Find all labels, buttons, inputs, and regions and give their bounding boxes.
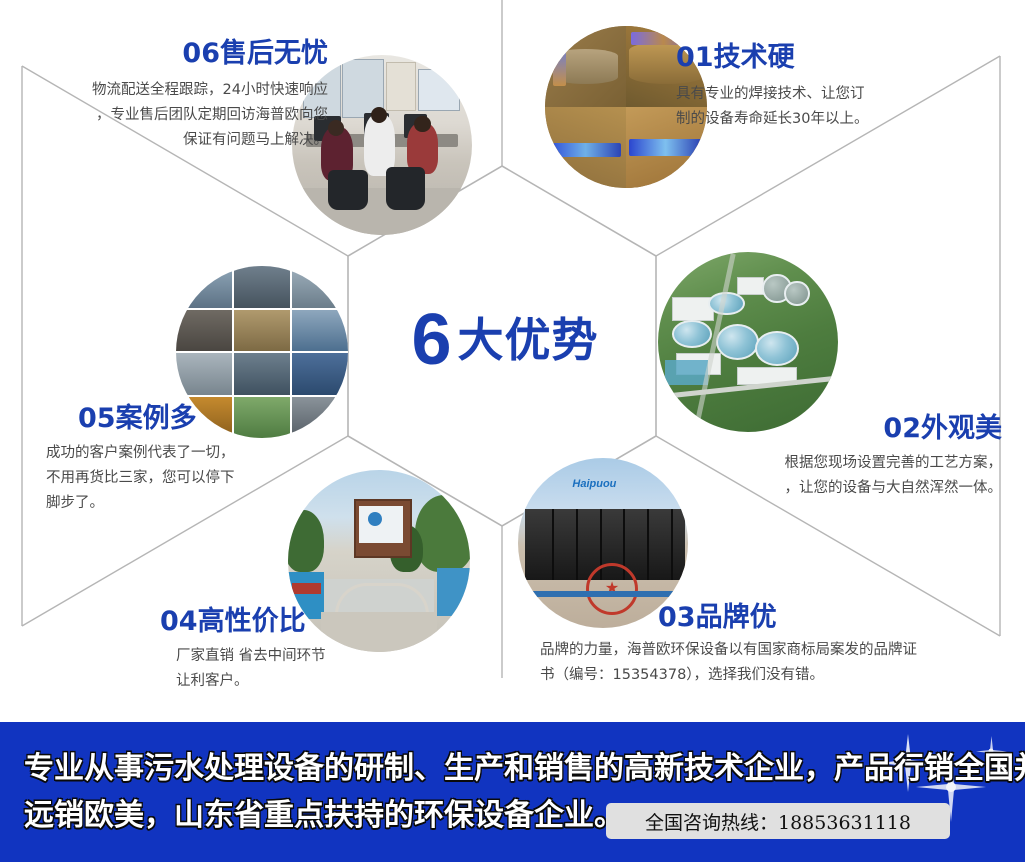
feature-01: 01技术硬 具有专业的焊接技术、让您订 制的设备寿命延长30年以上。 bbox=[676, 44, 976, 132]
hotline-box[interactable]: 全国咨询热线：18853631118 bbox=[606, 803, 950, 839]
brand-logo: Haipuou bbox=[572, 478, 616, 490]
feature-02: 02外观美 根据您现场设置完善的工艺方案， ，让您的设备与大自然浑然一体。 bbox=[630, 415, 1002, 501]
center-text: 大优势 bbox=[458, 317, 599, 363]
plant-aerial-photo bbox=[658, 252, 838, 432]
feature-06-desc: 物流配送全程跟踪，24小时快速响应 ，专业售后团队定期回访海普欧向您 保证有问题… bbox=[18, 78, 328, 153]
hotline-text: 全国咨询热线：18853631118 bbox=[645, 808, 911, 835]
feature-02-desc: 根据您现场设置完善的工艺方案， ，让您的设备与大自然浑然一体。 bbox=[630, 451, 1002, 501]
feature-03-title: 03品牌优 bbox=[658, 604, 1010, 632]
center-number: 6 bbox=[411, 304, 449, 376]
bottom-banner: 专业从事污水处理设备的研制、生产和销售的高新技术企业，产品行销全国并 远销欧美，… bbox=[0, 722, 1025, 862]
feature-04-title: 04高性价比 bbox=[160, 608, 480, 636]
feature-03: 03品牌优 品牌的力量，海普欧环保设备以有国家商标局案发的品牌证 书（编号：15… bbox=[540, 604, 1010, 688]
feature-04-desc: 厂家直销 省去中间环节 让利客户。 bbox=[176, 644, 480, 694]
feature-02-title: 02外观美 bbox=[630, 415, 1002, 443]
banner-line-1: 专业从事污水处理设备的研制、生产和销售的高新技术企业，产品行销全国并 bbox=[24, 746, 904, 793]
advantages-infographic: 6 大优势 06售后无忧 物流配送全程跟踪，24小时快速响应 bbox=[0, 0, 1025, 862]
center-headline: 6 大优势 bbox=[390, 295, 620, 385]
feature-05: 05案例多 成功的客户案例代表了一切， 不用再货比三家，您可以停下 脚步了。 bbox=[78, 405, 378, 516]
feature-06: 06售后无忧 物流配送全程跟踪，24小时快速响应 ，专业售后团队定期回访海普欧向… bbox=[18, 40, 328, 153]
feature-04: 04高性价比 厂家直销 省去中间环节 让利客户。 bbox=[160, 608, 480, 694]
feature-06-title: 06售后无忧 bbox=[18, 40, 328, 68]
feature-01-desc: 具有专业的焊接技术、让您订 制的设备寿命延长30年以上。 bbox=[676, 82, 976, 132]
feature-01-title: 01技术硬 bbox=[676, 44, 976, 72]
feature-03-desc: 品牌的力量，海普欧环保设备以有国家商标局案发的品牌证 书（编号：15354378… bbox=[540, 638, 1010, 688]
feature-05-title: 05案例多 bbox=[78, 405, 378, 433]
feature-05-desc: 成功的客户案例代表了一切， 不用再货比三家，您可以停下 脚步了。 bbox=[46, 441, 378, 516]
